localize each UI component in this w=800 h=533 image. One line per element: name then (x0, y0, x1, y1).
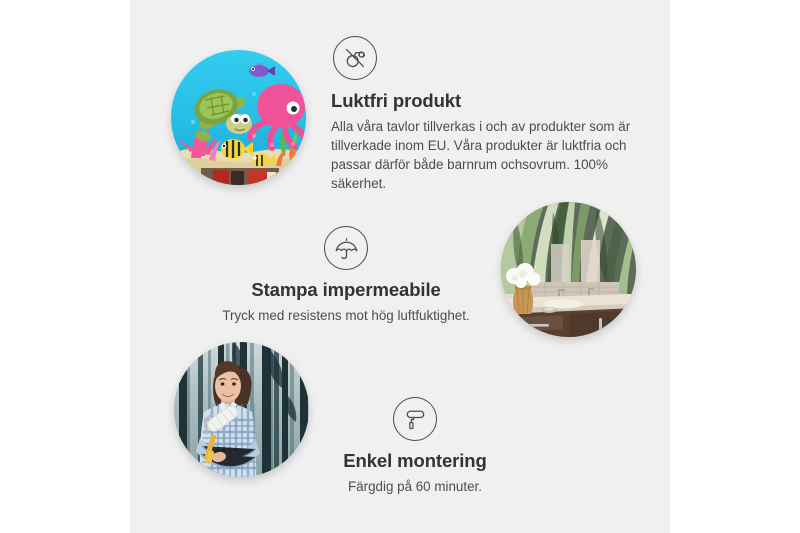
photo-underwater-scene (171, 50, 306, 185)
no-odour-spray-bottle-icon (333, 36, 377, 80)
promo-banner: Luktfri produkt Alla våra tavlor tillver… (0, 0, 800, 533)
umbrella-icon (324, 226, 368, 270)
feature-description: Alla våra tavlor tillverkas i och av pro… (331, 117, 636, 193)
feature-title: Enkel montering (300, 450, 530, 472)
photo-painter-woman (174, 342, 309, 477)
feature-easymount: Enkel montering Färgdig på 60 minuter. (300, 397, 530, 496)
feature-description: Färgdig på 60 minuter. (300, 477, 530, 496)
feature-odourless: Luktfri produkt Alla våra tavlor tillver… (331, 36, 636, 193)
paint-roller-icon (393, 397, 437, 441)
feature-title: Luktfri produkt (331, 90, 636, 112)
photo-bathroom-scene (501, 202, 636, 337)
feature-description: Tryck med resistens mot hög luftfuktighe… (212, 306, 480, 325)
feature-waterproof: Stampa impermeabile Tryck med resistens … (212, 226, 480, 325)
feature-title: Stampa impermeabile (212, 279, 480, 301)
